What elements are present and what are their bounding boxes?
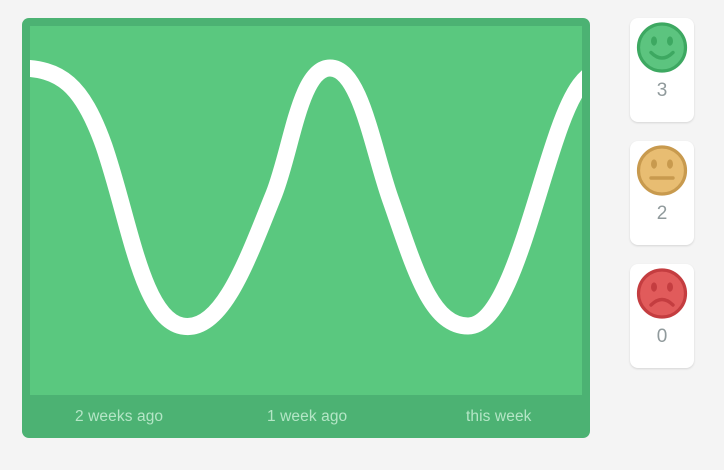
axis-label-1-week-ago: 1 week ago [267,408,347,426]
mood-trend-line-chart [30,26,582,395]
chart-axis-footer: 2 weeks ago 1 week ago this week [22,395,590,438]
mood-chart-card: 2 weeks ago 1 week ago this week [22,18,590,438]
axis-label-this-week: this week [466,408,532,426]
sentiment-card-sad[interactable]: 0 [630,264,694,368]
sentiment-count-sad: 0 [630,326,694,348]
sentiment-count-happy: 3 [630,80,694,102]
sad-face-icon [636,267,689,320]
neutral-face-icon [636,144,689,197]
sentiment-card-neutral[interactable]: 2 [630,141,694,245]
sentiment-summary-panel: 3 2 0 [630,18,694,387]
happy-face-icon [636,21,689,74]
axis-label-2-weeks-ago: 2 weeks ago [75,408,163,426]
sentiment-count-neutral: 2 [630,203,694,225]
mood-chart-plot-area [30,26,582,395]
mood-trend-line-path [30,68,582,327]
sentiment-card-happy[interactable]: 3 [630,18,694,122]
